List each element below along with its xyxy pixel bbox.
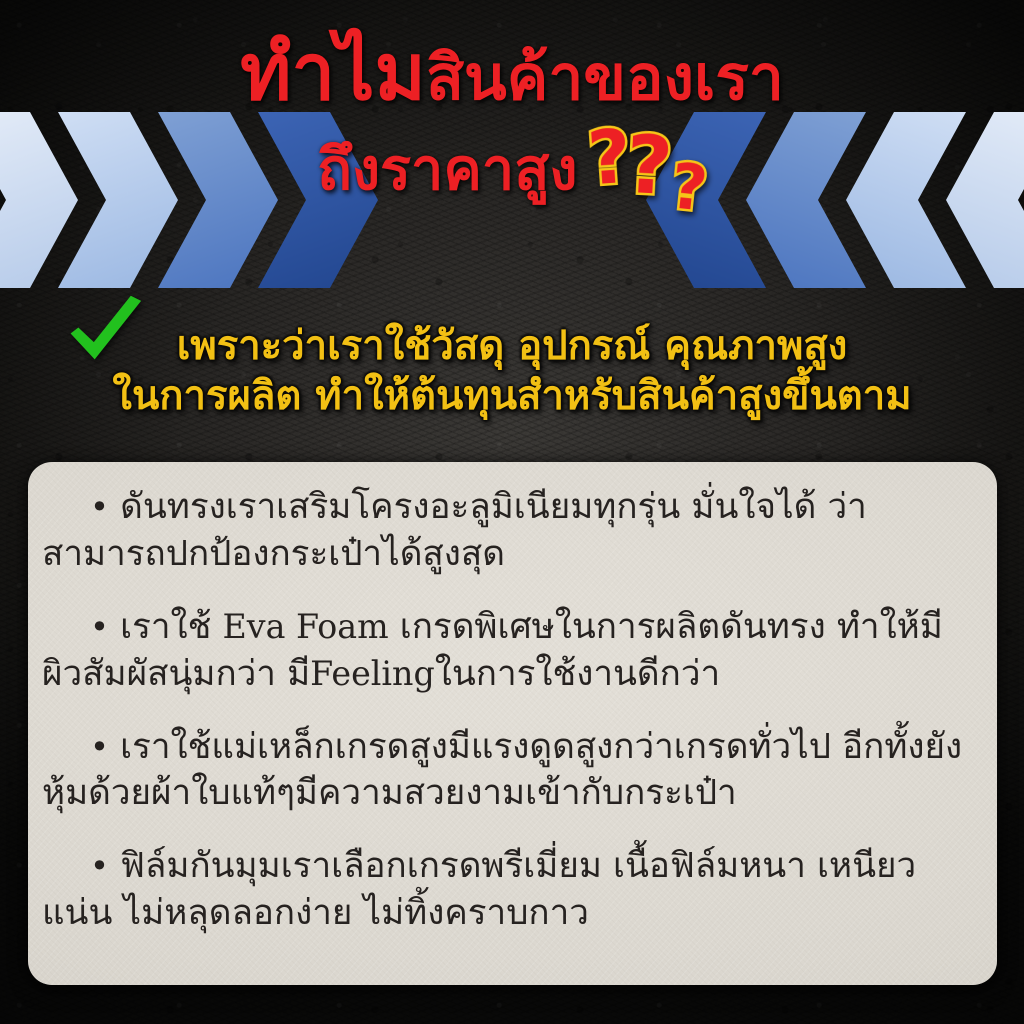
bullet-text-line-1a: เราใช้ (120, 607, 222, 647)
list-item: • ฟิล์มกันมุมเราเลือกเกรดพรีเมี่ยม เนื้อ… (42, 843, 981, 937)
bullet-marker: • (90, 488, 109, 526)
headline-line-2-text: ถึงราคาสูง (317, 136, 577, 203)
list-item: • เราใช้แม่เหล็กเกรดสูงมีแรงดูดสูงกว่าเก… (42, 724, 981, 818)
bullet-text-line-1: ดันทรงเราเสริมโครงอะลูมิเนียมทุกรุ่น มั่… (120, 487, 816, 527)
bullet-marker: • (90, 728, 109, 766)
bullet-text-line-1: เราใช้แม่เหล็กเกรดสูงมีแรงดูดสูงกว่าเกรด… (120, 727, 831, 767)
bullet-text-line-2b: ในการใช้งานดีกว่า (435, 654, 720, 694)
headline-line-2: ถึงราคาสูง??? (0, 124, 1024, 200)
bullet-marker: • (90, 608, 109, 646)
headline-emphasis: ทำไม (240, 28, 426, 118)
question-mark-2: ? (625, 127, 675, 205)
headline: ทำไมสินค้าของเรา ถึงราคาสูง??? (0, 36, 1024, 200)
subtitle-line-2: ในการผลิต ทำให้ต้นทุนสำหรับสินค้าสูงขึ้น… (0, 372, 1024, 422)
headline-rest: สินค้าของเรา (426, 41, 784, 114)
list-item: • เราใช้ Eva Foam เกรดพิเศษในการผลิตดันท… (42, 604, 981, 698)
bullet-latin-eva-foam: Eva Foam (223, 607, 389, 646)
list-item: • ดันทรงเราเสริมโครงอะลูมิเนียมทุกรุ่น ม… (42, 484, 981, 578)
question-mark-3: ? (668, 157, 710, 219)
subtitle-line-1: เพราะว่าเราใช้วัสดุ อุปกรณ์ คุณภาพสูง (0, 322, 1024, 372)
bullet-text-line-1: ฟิล์มกันมุมเราเลือกเกรดพรีเมี่ยม เนื้อฟิ… (120, 846, 806, 886)
bullet-latin-feeling: Feeling (310, 654, 435, 693)
green-check-icon (62, 294, 148, 380)
promo-poster: ทำไมสินค้าของเรา ถึงราคาสูง??? เพราะว่าเ… (0, 0, 1024, 1024)
headline-line-1: ทำไมสินค้าของเรา (0, 36, 1024, 110)
question-marks: ??? (588, 124, 707, 200)
subtitle-block: เพราะว่าเราใช้วัสดุ อุปกรณ์ คุณภาพสูง ใน… (0, 322, 1024, 421)
bullet-text-line-1b: เกรดพิเศษในการผลิตดันทรง (389, 607, 826, 647)
bullet-list: • ดันทรงเราเสริมโครงอะลูมิเนียมทุกรุ่น ม… (28, 462, 997, 937)
content-card: • ดันทรงเราเสริมโครงอะลูมิเนียมทุกรุ่น ม… (28, 462, 997, 985)
bullet-marker: • (90, 847, 109, 885)
